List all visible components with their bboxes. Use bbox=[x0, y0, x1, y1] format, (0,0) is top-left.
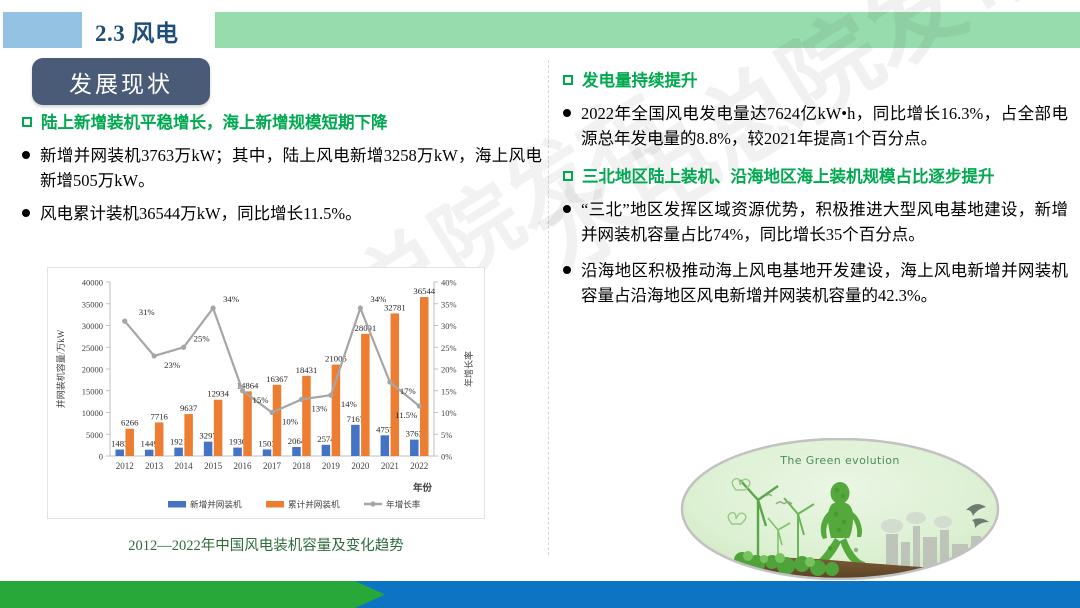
svg-text:累计并网装机: 累计并网装机 bbox=[288, 499, 340, 510]
svg-text:12934: 12934 bbox=[207, 389, 229, 399]
svg-text:20000: 20000 bbox=[82, 365, 103, 375]
chart-container: 0500010000150002000025000300003500040000… bbox=[47, 267, 485, 519]
svg-text:15000: 15000 bbox=[82, 386, 103, 396]
svg-text:2017: 2017 bbox=[263, 461, 282, 471]
svg-text:20%: 20% bbox=[441, 365, 457, 375]
svg-text:25%: 25% bbox=[441, 343, 457, 353]
svg-text:9637: 9637 bbox=[180, 403, 198, 413]
svg-text:34%: 34% bbox=[223, 294, 239, 304]
svg-text:5%: 5% bbox=[441, 430, 452, 440]
chart-caption: 2012—2022年中国风电装机容量及变化趋势 bbox=[47, 534, 485, 555]
left-heading-label: 陆上新增装机平稳增长，海上新增规模短期下降 bbox=[41, 112, 542, 135]
svg-text:35%: 35% bbox=[441, 299, 457, 309]
section-pill: 发展现状 bbox=[32, 58, 210, 105]
svg-text:5000: 5000 bbox=[86, 430, 103, 440]
footer-green-arrow bbox=[0, 581, 385, 608]
left-heading: 陆上新增装机平稳增长，海上新增规模短期下降 bbox=[22, 112, 542, 135]
dot-bullet-icon bbox=[563, 266, 571, 274]
svg-text:0%: 0% bbox=[441, 452, 452, 462]
svg-text:23%: 23% bbox=[164, 360, 180, 370]
right-bullet-2: “三北”地区发挥区域资源优势，积极推进大型风电基地建设，新增并网装机容量占比74… bbox=[563, 197, 1068, 248]
photo-caption: The Green evolution bbox=[680, 454, 1000, 467]
right-bullet-3-text: 沿海地区积极推动海上风电基地开发建设，海上风电新增并网装机容量占沿海地区风电新增… bbox=[581, 258, 1068, 309]
svg-text:34%: 34% bbox=[370, 294, 386, 304]
svg-text:31%: 31% bbox=[139, 307, 155, 317]
svg-text:25000: 25000 bbox=[82, 343, 103, 353]
right-bullet-3: 沿海地区积极推动海上风电基地开发建设，海上风电新增并网装机容量占沿海地区风电新增… bbox=[563, 258, 1068, 309]
page-title: 2.3 风电 bbox=[93, 14, 215, 48]
right-bullet-2-text: “三北”地区发挥区域资源优势，积极推进大型风电基地建设，新增并网装机容量占比74… bbox=[581, 197, 1068, 248]
right-heading-2: 三北地区陆上装机、沿海地区海上装机规模占比逐步提升 bbox=[563, 166, 1068, 189]
svg-text:10000: 10000 bbox=[82, 408, 103, 418]
left-bullet-1-text: 新增并网装机3763万kW；其中，陆上风电新增3258万kW，海上风电新增505… bbox=[40, 143, 542, 194]
svg-text:35000: 35000 bbox=[82, 299, 103, 309]
wind-capacity-chart: 0500010000150002000025000300003500040000… bbox=[48, 268, 484, 518]
svg-text:年增长率: 年增长率 bbox=[386, 499, 421, 510]
svg-text:18431: 18431 bbox=[296, 365, 318, 375]
svg-text:2015: 2015 bbox=[204, 461, 223, 471]
svg-text:2022: 2022 bbox=[410, 461, 428, 471]
right-bullet-1-text: 2022年全国风电发电量达7624亿kW•h，同比增长16.3%，占全部电源总年… bbox=[581, 101, 1068, 152]
left-bullet-2: 风电累计装机36544万kW，同比增长11.5%。 bbox=[22, 201, 542, 227]
svg-text:15%: 15% bbox=[441, 386, 457, 396]
svg-text:40%: 40% bbox=[441, 278, 457, 288]
svg-text:15%: 15% bbox=[253, 395, 269, 405]
svg-text:0: 0 bbox=[99, 452, 103, 462]
svg-text:新增并网装机: 新增并网装机 bbox=[190, 499, 242, 510]
svg-text:年份: 年份 bbox=[413, 482, 433, 494]
svg-text:32781: 32781 bbox=[384, 302, 406, 312]
slide: 2.3 风电 发展现状 水电总院发布 水电总院发布 陆上新增装机平稳增长，海上新… bbox=[0, 0, 1080, 608]
svg-text:2018: 2018 bbox=[292, 461, 311, 471]
svg-text:2016: 2016 bbox=[234, 461, 253, 471]
svg-text:10%: 10% bbox=[441, 408, 457, 418]
svg-text:13%: 13% bbox=[311, 403, 327, 413]
svg-text:17%: 17% bbox=[400, 386, 416, 396]
hollow-square-bullet-icon bbox=[22, 117, 32, 127]
svg-text:28091: 28091 bbox=[355, 323, 377, 333]
header-blue-block bbox=[3, 12, 82, 48]
svg-text:2013: 2013 bbox=[145, 461, 164, 471]
svg-text:2019: 2019 bbox=[322, 461, 341, 471]
svg-text:30%: 30% bbox=[441, 321, 457, 331]
left-column: 陆上新增装机平稳增长，海上新增规模短期下降 新增并网装机3763万kW；其中，陆… bbox=[22, 112, 542, 233]
svg-text:年增长率: 年增长率 bbox=[463, 351, 474, 387]
dot-bullet-icon bbox=[22, 151, 30, 159]
svg-text:10%: 10% bbox=[282, 417, 298, 427]
right-bullet-1: 2022年全国风电发电量达7624亿kW•h，同比增长16.3%，占全部电源总年… bbox=[563, 101, 1068, 152]
svg-text:25%: 25% bbox=[194, 333, 210, 343]
right-heading-1: 发电量持续提升 bbox=[563, 70, 1068, 93]
svg-text:30000: 30000 bbox=[82, 321, 103, 331]
svg-text:2021: 2021 bbox=[381, 461, 399, 471]
svg-text:2012: 2012 bbox=[116, 461, 134, 471]
svg-text:2020: 2020 bbox=[351, 461, 370, 471]
dot-bullet-icon bbox=[563, 109, 571, 117]
svg-text:并网装机容量/万kW: 并网装机容量/万kW bbox=[55, 329, 66, 408]
hollow-square-bullet-icon bbox=[563, 171, 573, 181]
svg-text:2014: 2014 bbox=[175, 461, 194, 471]
right-heading-1-label: 发电量持续提升 bbox=[582, 70, 1068, 93]
svg-text:7716: 7716 bbox=[150, 411, 168, 421]
svg-text:16367: 16367 bbox=[266, 374, 288, 384]
dot-bullet-icon bbox=[563, 205, 571, 213]
hollow-square-bullet-icon bbox=[563, 75, 573, 85]
left-bullet-2-text: 风电累计装机36544万kW，同比增长11.5%。 bbox=[40, 201, 542, 227]
right-heading-2-label: 三北地区陆上装机、沿海地区海上装机规模占比逐步提升 bbox=[582, 166, 1068, 189]
dot-bullet-icon bbox=[22, 209, 30, 217]
svg-text:36544: 36544 bbox=[413, 286, 435, 296]
green-evolution-image: The Green evolution bbox=[680, 438, 1000, 580]
svg-text:14%: 14% bbox=[341, 399, 357, 409]
column-divider bbox=[548, 60, 549, 555]
svg-text:40000: 40000 bbox=[82, 278, 103, 288]
header-green-bar bbox=[215, 12, 1080, 48]
right-column: 发电量持续提升 2022年全国风电发电量达7624亿kW•h，同比增长16.3%… bbox=[563, 56, 1068, 319]
svg-text:11.5%: 11.5% bbox=[395, 410, 417, 420]
svg-text:6266: 6266 bbox=[121, 418, 139, 428]
left-bullet-1: 新增并网装机3763万kW；其中，陆上风电新增3258万kW，海上风电新增505… bbox=[22, 143, 542, 194]
